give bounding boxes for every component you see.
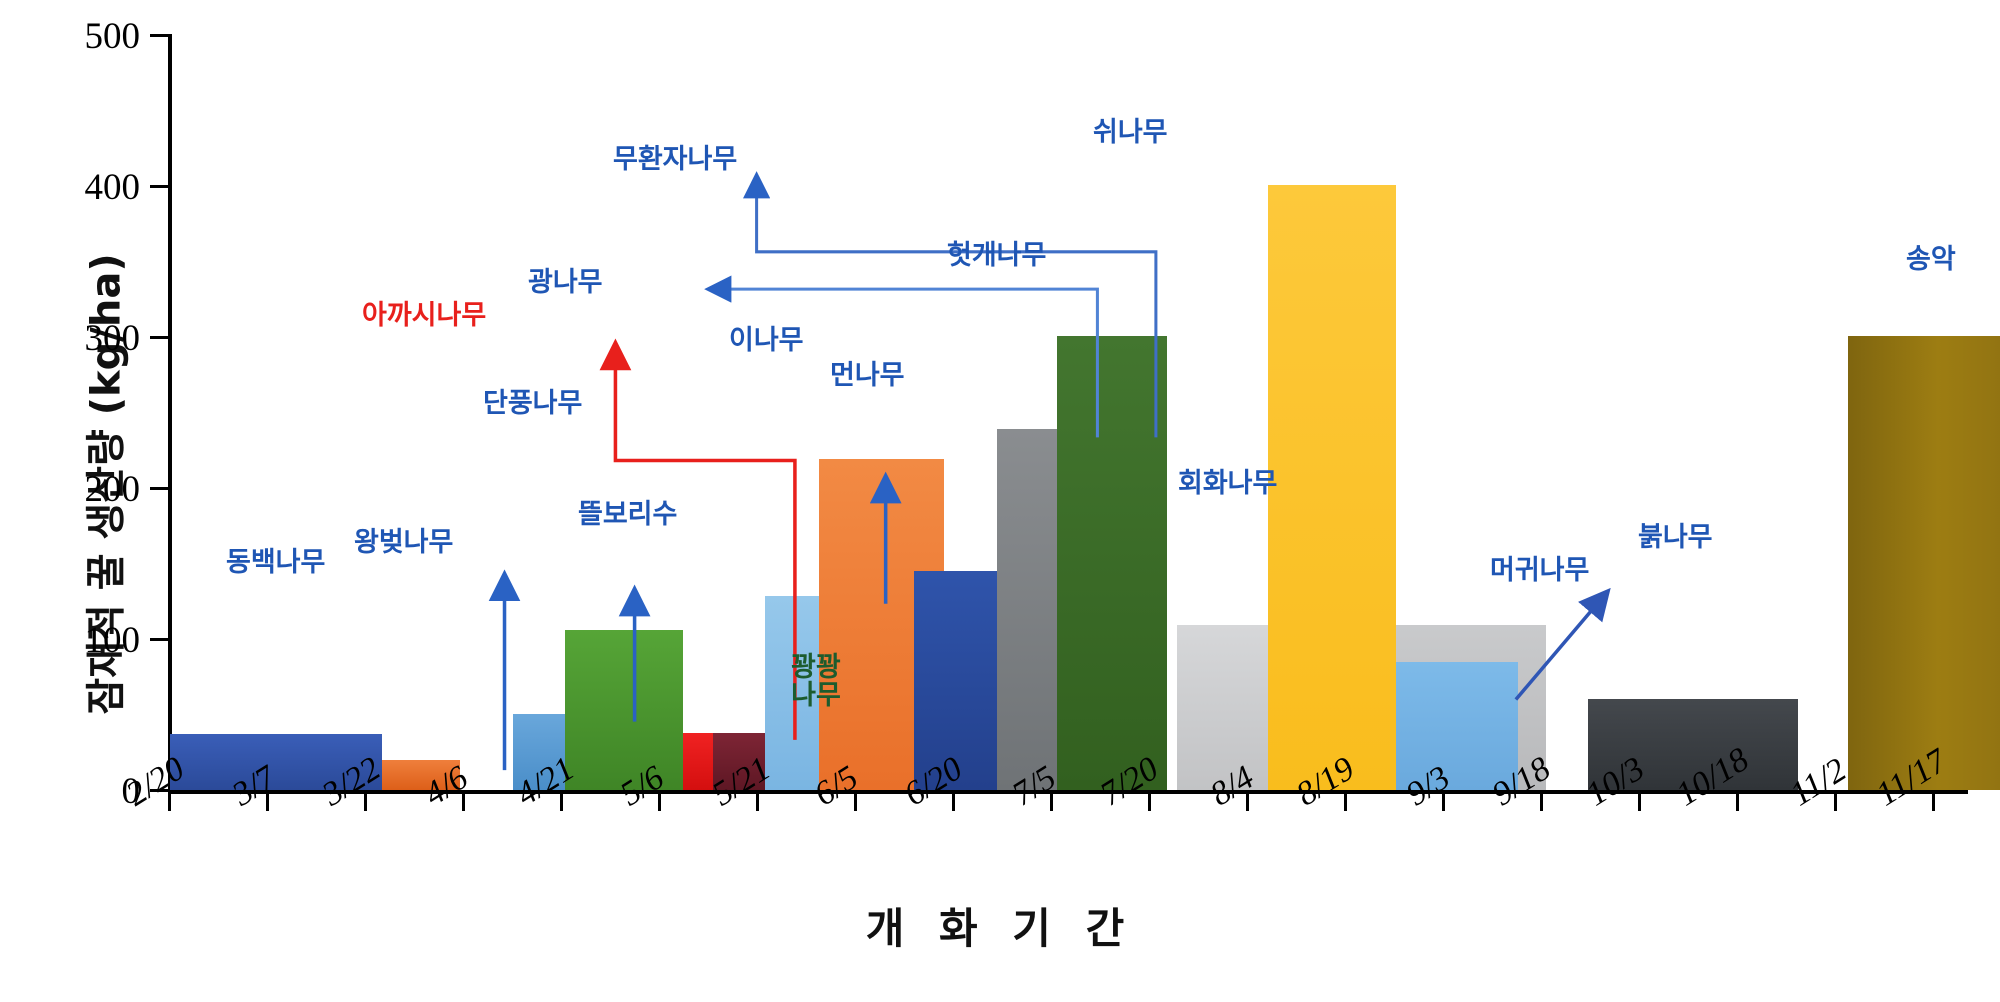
annotation-ina: 이나무 <box>729 327 804 355</box>
x-tick-10 <box>1148 794 1151 811</box>
annotation-muhwanja: 무환자나무 <box>613 146 737 174</box>
annotation-meon: 먼나무 <box>830 362 905 390</box>
annotation-gwang: 광나무 <box>528 269 603 297</box>
bar-swi <box>1268 185 1396 790</box>
bar-muhwanja <box>914 571 997 790</box>
x-tick-8 <box>952 794 955 811</box>
bar-heotgae <box>997 429 1057 790</box>
annotation-kwangkwang-line1: 꽝꽝 <box>791 652 841 683</box>
x-tick-16 <box>1736 794 1739 811</box>
x-tick-15 <box>1638 794 1641 811</box>
annotation-kwangkwang-line2: 나무 <box>791 680 841 711</box>
bar-songak <box>1848 336 2000 790</box>
y-tick-300 <box>150 336 168 339</box>
y-tick-label-200: 200 <box>30 468 140 511</box>
annotation-akkasi: 아까시나무 <box>362 302 486 330</box>
x-tick-17 <box>1834 794 1837 811</box>
y-tick-label-400: 400 <box>30 166 140 209</box>
y-tick-label-500: 500 <box>30 15 140 58</box>
annotation-bulk: 붉나무 <box>1638 524 1713 552</box>
annotation-swi: 쉬나무 <box>1093 119 1168 147</box>
annotation-kwangkwang: 꽝꽝 나무 <box>780 654 852 711</box>
x-axis-title: 개 화 기 간 <box>0 895 2000 956</box>
chart-root: 잠재적 꿀 생산량 (kg/ha) <box>0 0 2000 968</box>
y-tick-400 <box>150 185 168 188</box>
annotation-ddeulbori: 뜰보리수 <box>578 501 677 529</box>
plot-area: 동백나무 왕벚나무 단풍나무 뜰보리수 아까시나무 이나무 꽝꽝 나무 먼나무 … <box>168 34 1968 794</box>
bar-bulk-blue <box>1396 662 1518 790</box>
annotation-meogwi: 머귀나무 <box>1490 557 1589 585</box>
x-tick-4 <box>560 794 563 811</box>
y-tick-label-0: 0 <box>30 770 140 813</box>
y-tick-label-300: 300 <box>30 317 140 360</box>
annotation-heotgae: 헛개나무 <box>947 242 1046 270</box>
y-tick-label-100: 100 <box>30 619 140 662</box>
annotation-danpung: 단풍나무 <box>483 390 582 418</box>
annotation-hoehwa: 회화나무 <box>1178 470 1277 498</box>
y-axis-line <box>168 34 172 794</box>
x-tick-6 <box>756 794 759 811</box>
annotation-dongbaek: 동백나무 <box>226 549 325 577</box>
annotation-songak: 송악 <box>1906 246 1956 274</box>
x-tick-14 <box>1540 794 1543 811</box>
y-tick-500 <box>150 34 168 37</box>
x-tick-18 <box>1932 794 1935 811</box>
y-tick-100 <box>150 638 168 641</box>
bar-ddeulbori <box>565 630 683 790</box>
y-tick-200 <box>150 487 168 490</box>
bar-swi-green <box>1057 336 1167 790</box>
x-tick-12 <box>1344 794 1347 811</box>
x-tick-0 <box>168 794 171 811</box>
annotation-wangbeot: 왕벚나무 <box>354 529 453 557</box>
x-tick-2 <box>364 794 367 811</box>
